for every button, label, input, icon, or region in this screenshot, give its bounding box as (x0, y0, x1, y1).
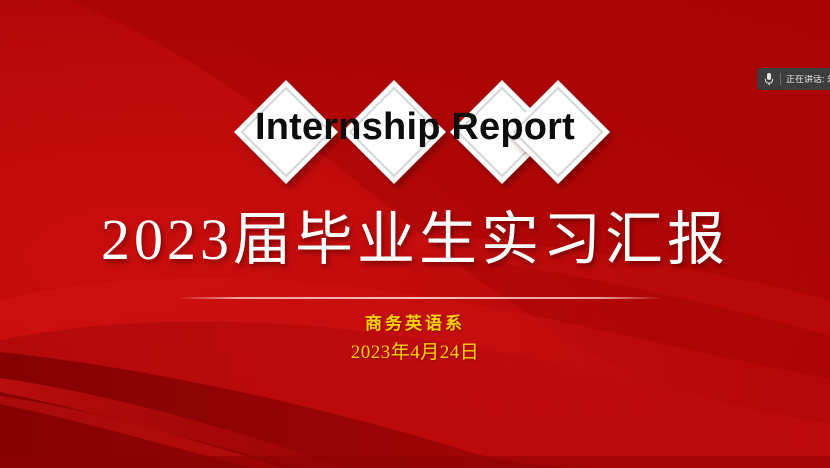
slide-department: 商务英语系 (0, 309, 830, 334)
active-speaker-overlay[interactable]: 正在讲话: 朱 (757, 68, 830, 90)
overlay-separator (780, 73, 781, 85)
title-divider (180, 297, 660, 299)
slide-title-english: Internship Report (0, 108, 830, 146)
microphone-icon (763, 72, 775, 86)
slide-date: 2023年4月24日 (0, 337, 830, 364)
presentation-slide: Internship Report 2023届毕业生实习汇报 商务英语系 202… (0, 0, 830, 468)
speaking-status-label: 正在讲话: 朱 (786, 75, 830, 84)
slide-title-chinese: 2023届毕业生实习汇报 (0, 207, 830, 274)
